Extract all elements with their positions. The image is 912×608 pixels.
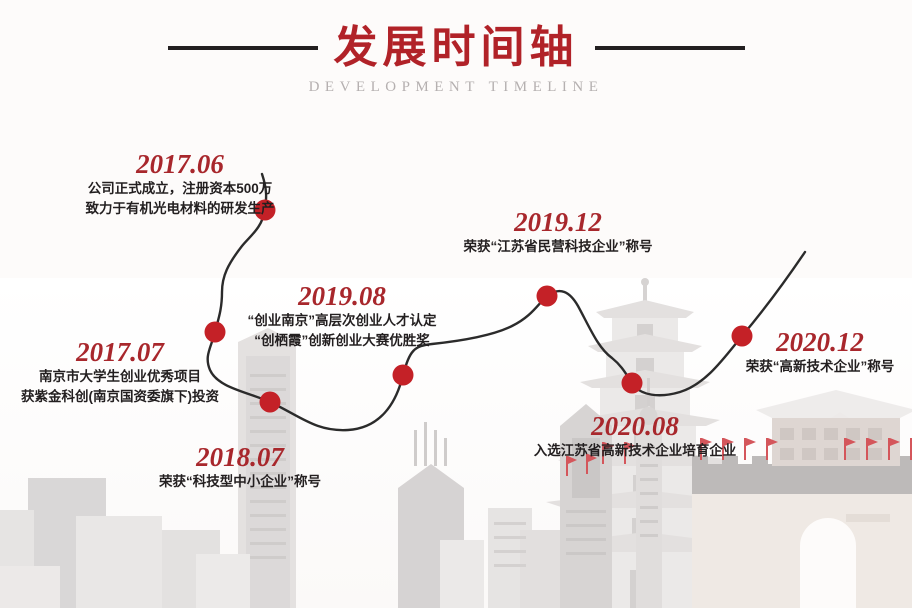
milestone-description-line: 荣获“科技型中小企业”称号 <box>120 472 360 491</box>
title-rule-right <box>595 46 745 50</box>
milestone-2017-07: 2017.07南京市大学生创业优秀项目获紫金科创(南京国资委旗下)投资 <box>10 338 230 406</box>
milestone-description: 荣获“科技型中小企业”称号 <box>120 472 360 491</box>
title-row: 发展时间轴 <box>0 26 912 70</box>
milestone-year: 2018.07 <box>120 443 360 471</box>
milestone-description-line: 获紫金科创(南京国资委旗下)投资 <box>10 387 230 406</box>
milestone-year: 2017.06 <box>55 150 305 178</box>
milestone-description-line: 入选江苏省高新技术企业培育企业 <box>520 441 750 460</box>
milestone-description-line: 荣获“高新技术企业”称号 <box>725 357 912 376</box>
page-subtitle: DEVELOPMENT TIMELINE <box>0 79 912 96</box>
milestone-2019-08: 2019.08“创业南京”高层次创业人才认定“创栖霞”创新创业大赛优胜奖 <box>227 282 457 350</box>
milestone-2020-08: 2020.08入选江苏省高新技术企业培育企业 <box>520 412 750 461</box>
milestone-year: 2019.08 <box>227 282 457 310</box>
milestone-description-line: “创栖霞”创新创业大赛优胜奖 <box>227 331 457 350</box>
page-title: 发展时间轴 <box>334 26 579 70</box>
milestone-description-line: 南京市大学生创业优秀项目 <box>10 367 230 386</box>
milestone-year: 2019.12 <box>443 208 673 236</box>
milestone-description-line: 公司正式成立，注册资本500万 <box>55 179 305 198</box>
skyline-mid-buildings <box>724 412 912 608</box>
milestone-2018-07: 2018.07荣获“科技型中小企业”称号 <box>120 443 360 492</box>
milestone-description: 南京市大学生创业优秀项目获紫金科创(南京国资委旗下)投资 <box>10 367 230 405</box>
milestone-year: 2017.07 <box>10 338 230 366</box>
milestone-description: 入选江苏省高新技术企业培育企业 <box>520 441 750 460</box>
milestone-description-line: “创业南京”高层次创业人才认定 <box>227 311 457 330</box>
timeline-infographic: 发展时间轴 DEVELOPMENT TIMELINE 2017.06公司正式成立… <box>0 0 912 608</box>
timeline-dot-2020-08[interactable] <box>619 370 645 396</box>
skyline-left-blocks <box>0 478 162 608</box>
milestone-year: 2020.08 <box>520 412 750 440</box>
timeline-dot-2018-07[interactable] <box>257 389 283 415</box>
timeline-dot-2019-08[interactable] <box>390 362 416 388</box>
page-header: 发展时间轴 DEVELOPMENT TIMELINE <box>0 26 912 96</box>
milestone-description-line: 荣获“江苏省民营科技企业”称号 <box>443 237 673 256</box>
milestone-description: 荣获“高新技术企业”称号 <box>725 357 912 376</box>
timeline-dot-2017-06[interactable] <box>252 197 278 223</box>
timeline-dot-2020-12[interactable] <box>729 323 755 349</box>
milestone-description: 荣获“江苏省民营科技企业”称号 <box>443 237 673 256</box>
timeline-dot-2019-12[interactable] <box>534 283 560 309</box>
skyline-antenna-block <box>398 422 464 608</box>
milestone-2019-12: 2019.12荣获“江苏省民营科技企业”称号 <box>443 208 673 257</box>
title-rule-left <box>168 46 318 50</box>
timeline-dot-2017-07[interactable] <box>202 319 228 345</box>
milestone-description: “创业南京”高层次创业人才认定“创栖霞”创新创业大赛优胜奖 <box>227 311 457 349</box>
